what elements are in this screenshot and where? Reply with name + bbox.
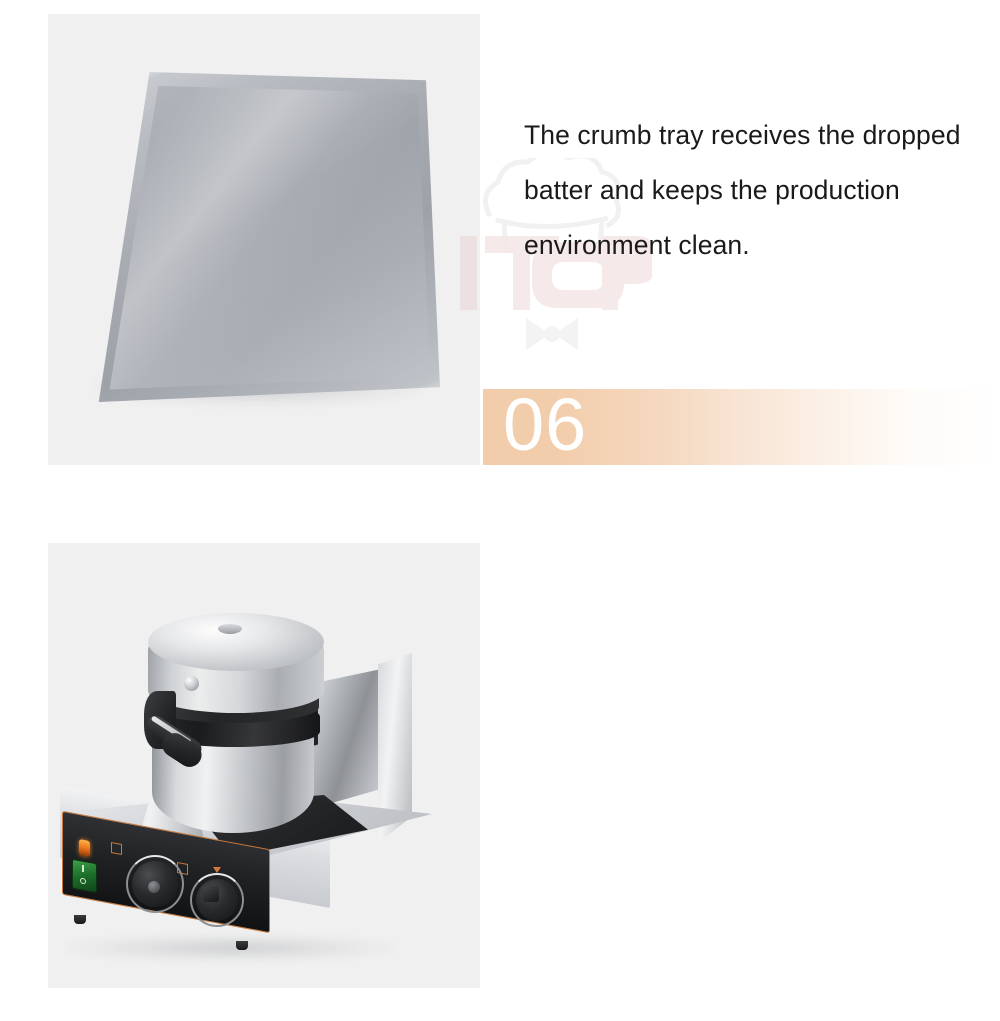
lid-top-surface [148, 613, 324, 671]
product-photo-waffle-maker [48, 543, 480, 988]
timer-label-icon [111, 842, 122, 855]
power-indicator-lamp-icon [79, 839, 90, 857]
tray-bottom-lip-highlight [90, 72, 440, 402]
waffle-maker-illustration [48, 543, 480, 988]
lid-vent-knob [218, 623, 242, 634]
feature-number-06: 06 [503, 387, 587, 463]
rubber-foot [74, 915, 86, 924]
product-photo-crumb-tray [48, 14, 480, 465]
feature-section-06: The crumb tray receives the dropped batt… [0, 0, 1000, 500]
timer-knob-center [148, 881, 160, 893]
switch-mark-off [80, 877, 86, 884]
feature-section-07: Stainless steel housing, elegant, easy t… [0, 529, 1000, 1021]
product-feature-page: The crumb tray receives the dropped batt… [0, 0, 1000, 1021]
switch-mark-on [82, 865, 84, 872]
temperature-knob-cap [203, 886, 219, 902]
lid-screw [184, 676, 199, 691]
green-rocker-switch [72, 859, 97, 894]
rubber-foot [236, 941, 248, 950]
crumb-tray-illustration [48, 14, 480, 465]
feature-description-06: The crumb tray receives the dropped batt… [524, 108, 964, 273]
machine-drop-shadow [66, 935, 396, 961]
